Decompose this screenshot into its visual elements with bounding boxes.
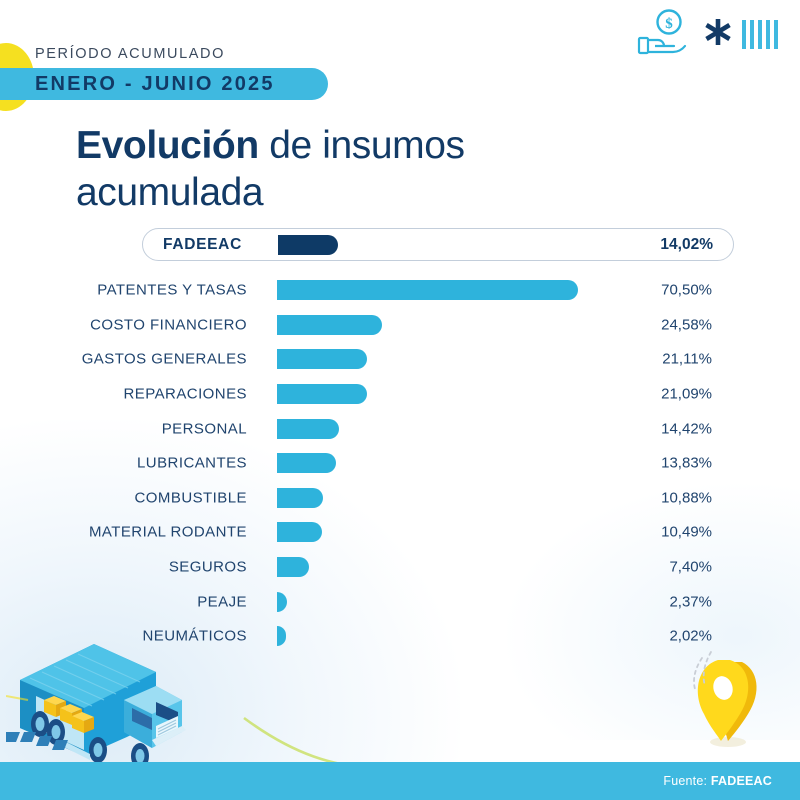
chart-row-bar <box>277 522 322 542</box>
chart-row-label: REPARACIONES <box>124 386 247 403</box>
chart-row-value: 24,58% <box>661 316 712 333</box>
chart-row-bar <box>277 384 367 404</box>
chart-row: MATERIAL RODANTE10,49% <box>0 515 800 550</box>
highlight-bar <box>278 235 338 255</box>
chart-row: LUBRICANTES13,83% <box>0 446 800 481</box>
highlight-label: FADEEAC <box>163 236 242 254</box>
chart-row: COSTO FINANCIERO24,58% <box>0 308 800 343</box>
chart-row: COMBUSTIBLE10,88% <box>0 481 800 516</box>
chart-row-bar <box>277 488 323 508</box>
cargo-truck-icon <box>6 628 216 778</box>
chart-row-label: PEAJE <box>197 593 247 610</box>
icon-cluster: $ <box>636 8 779 61</box>
chart-row-value: 70,50% <box>661 282 712 299</box>
chart-row-value: 7,40% <box>669 559 712 576</box>
chart-row-bar <box>277 453 336 473</box>
chart-row-label: COMBUSTIBLE <box>135 489 247 506</box>
vertical-bars-icon <box>742 20 779 49</box>
source-name: FADEEAC <box>711 774 772 788</box>
map-pin-icon <box>678 648 764 752</box>
chart-row-label: SEGUROS <box>169 559 247 576</box>
chart-row-value: 10,49% <box>661 524 712 541</box>
chart-row: PATENTES Y TASAS70,50% <box>0 273 800 308</box>
asterisk-icon <box>703 16 733 53</box>
chart-row: REPARACIONES21,09% <box>0 377 800 412</box>
period-label: ENERO - JUNIO 2025 <box>35 73 275 96</box>
kicker-label: PERÍODO ACUMULADO <box>35 46 225 62</box>
chart-row-value: 10,88% <box>661 489 712 506</box>
chart-row-label: PERSONAL <box>162 420 247 437</box>
chart-row-label: PATENTES Y TASAS <box>97 282 247 299</box>
page-title: Evolución de insumos acumulada <box>76 122 636 216</box>
period-badge: ENERO - JUNIO 2025 <box>0 68 328 100</box>
chart-row-bar <box>277 315 382 335</box>
chart-row-bar <box>277 349 367 369</box>
chart-row: PEAJE2,37% <box>0 584 800 619</box>
chart-row: PERSONAL14,42% <box>0 411 800 446</box>
chart-row: GASTOS GENERALES21,11% <box>0 342 800 377</box>
chart-row-bar <box>277 592 287 612</box>
chart-row-bar <box>277 419 339 439</box>
footer-bar: Fuente: FADEEAC <box>0 762 800 800</box>
chart-row: SEGUROS7,40% <box>0 550 800 585</box>
chart-row-value: 14,42% <box>661 420 712 437</box>
chart-row-label: MATERIAL RODANTE <box>89 524 247 541</box>
source-prefix: Fuente: <box>663 774 710 788</box>
highlight-value: 14,02% <box>660 236 713 254</box>
chart-row-value: 2,02% <box>669 628 712 645</box>
svg-text:$: $ <box>665 16 673 32</box>
hand-holding-money-icon: $ <box>636 8 694 61</box>
chart-row-label: COSTO FINANCIERO <box>90 316 247 333</box>
chart-row-bar <box>277 557 309 577</box>
infographic-canvas: PERÍODO ACUMULADO ENERO - JUNIO 2025 $ <box>0 0 800 800</box>
chart-row-value: 21,11% <box>662 351 712 368</box>
chart-row-bar <box>277 626 286 646</box>
source-credit: Fuente: FADEEAC <box>663 774 772 788</box>
title-bold: Evolución <box>76 124 259 167</box>
chart-row-value: 13,83% <box>661 455 712 472</box>
chart-row-value: 2,37% <box>669 593 712 610</box>
chart-rows: PATENTES Y TASAS70,50%COSTO FINANCIERO24… <box>0 273 800 654</box>
chart-row-value: 21,09% <box>661 386 712 403</box>
chart-row-label: LUBRICANTES <box>137 455 247 472</box>
chart-row-bar <box>277 280 578 300</box>
chart-row-label: GASTOS GENERALES <box>82 351 247 368</box>
highlight-row-fadeeac: FADEEAC 14,02% <box>142 228 734 261</box>
